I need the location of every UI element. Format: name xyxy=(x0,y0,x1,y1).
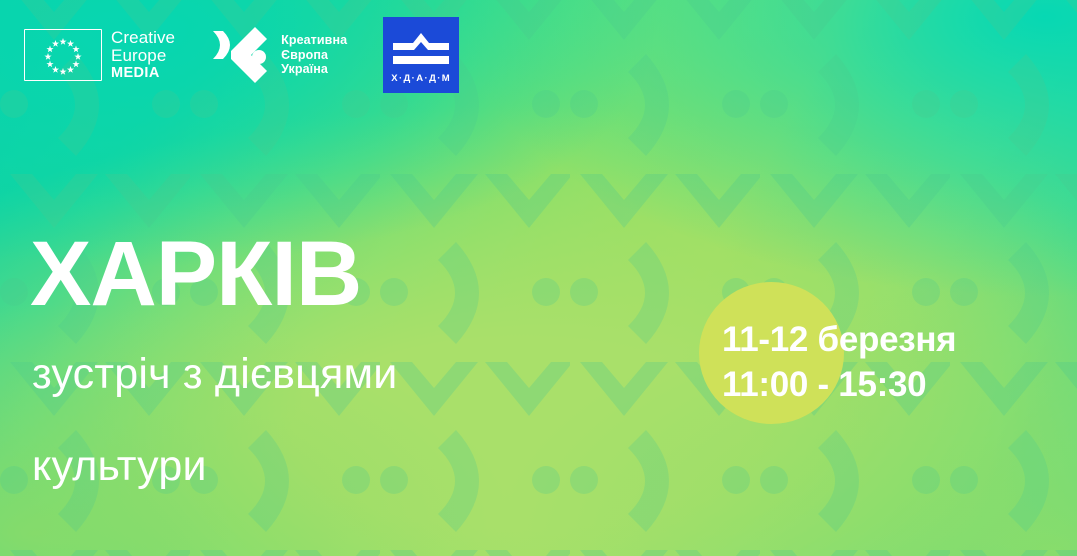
logo-hdadm: Х·Д·А·Д·М xyxy=(383,17,459,93)
eu-flag-icon xyxy=(24,29,102,81)
logo-creative-europe-ukraine: Креативна Європа Україна xyxy=(211,25,347,85)
logo-line-yevropa: Європа xyxy=(281,48,347,63)
ke-monogram-icon xyxy=(211,25,273,85)
logo-line-kreatyvna: Креативна xyxy=(281,33,347,48)
event-dates: 11-12 березня xyxy=(722,318,956,363)
logo-row: Creative Europe MEDIA Креативна Європа У… xyxy=(24,18,459,92)
event-date-time: 11-12 березня 11:00 - 15:30 xyxy=(722,318,956,408)
creative-europe-ukraine-wordmark: Креативна Європа Україна xyxy=(281,33,347,77)
creative-europe-media-wordmark: Creative Europe MEDIA xyxy=(111,29,175,80)
subtitle-line-1: зустріч з дієвцями xyxy=(32,350,397,399)
event-banner: Creative Europe MEDIA Креативна Європа У… xyxy=(0,0,1077,556)
hdadm-letters: Х·Д·А·Д·М xyxy=(383,73,459,84)
logo-line-ukraina: Україна xyxy=(281,62,347,77)
event-time: 11:00 - 15:30 xyxy=(722,363,956,408)
city-headline: ХАРКІВ xyxy=(30,228,361,320)
logo-line-media: MEDIA xyxy=(111,66,175,81)
logo-creative-europe-media: Creative Europe MEDIA xyxy=(24,29,175,81)
logo-line-europe: Europe xyxy=(111,47,175,64)
logo-line-creative: Creative xyxy=(111,29,175,46)
subtitle-line-2: культури xyxy=(32,442,207,491)
